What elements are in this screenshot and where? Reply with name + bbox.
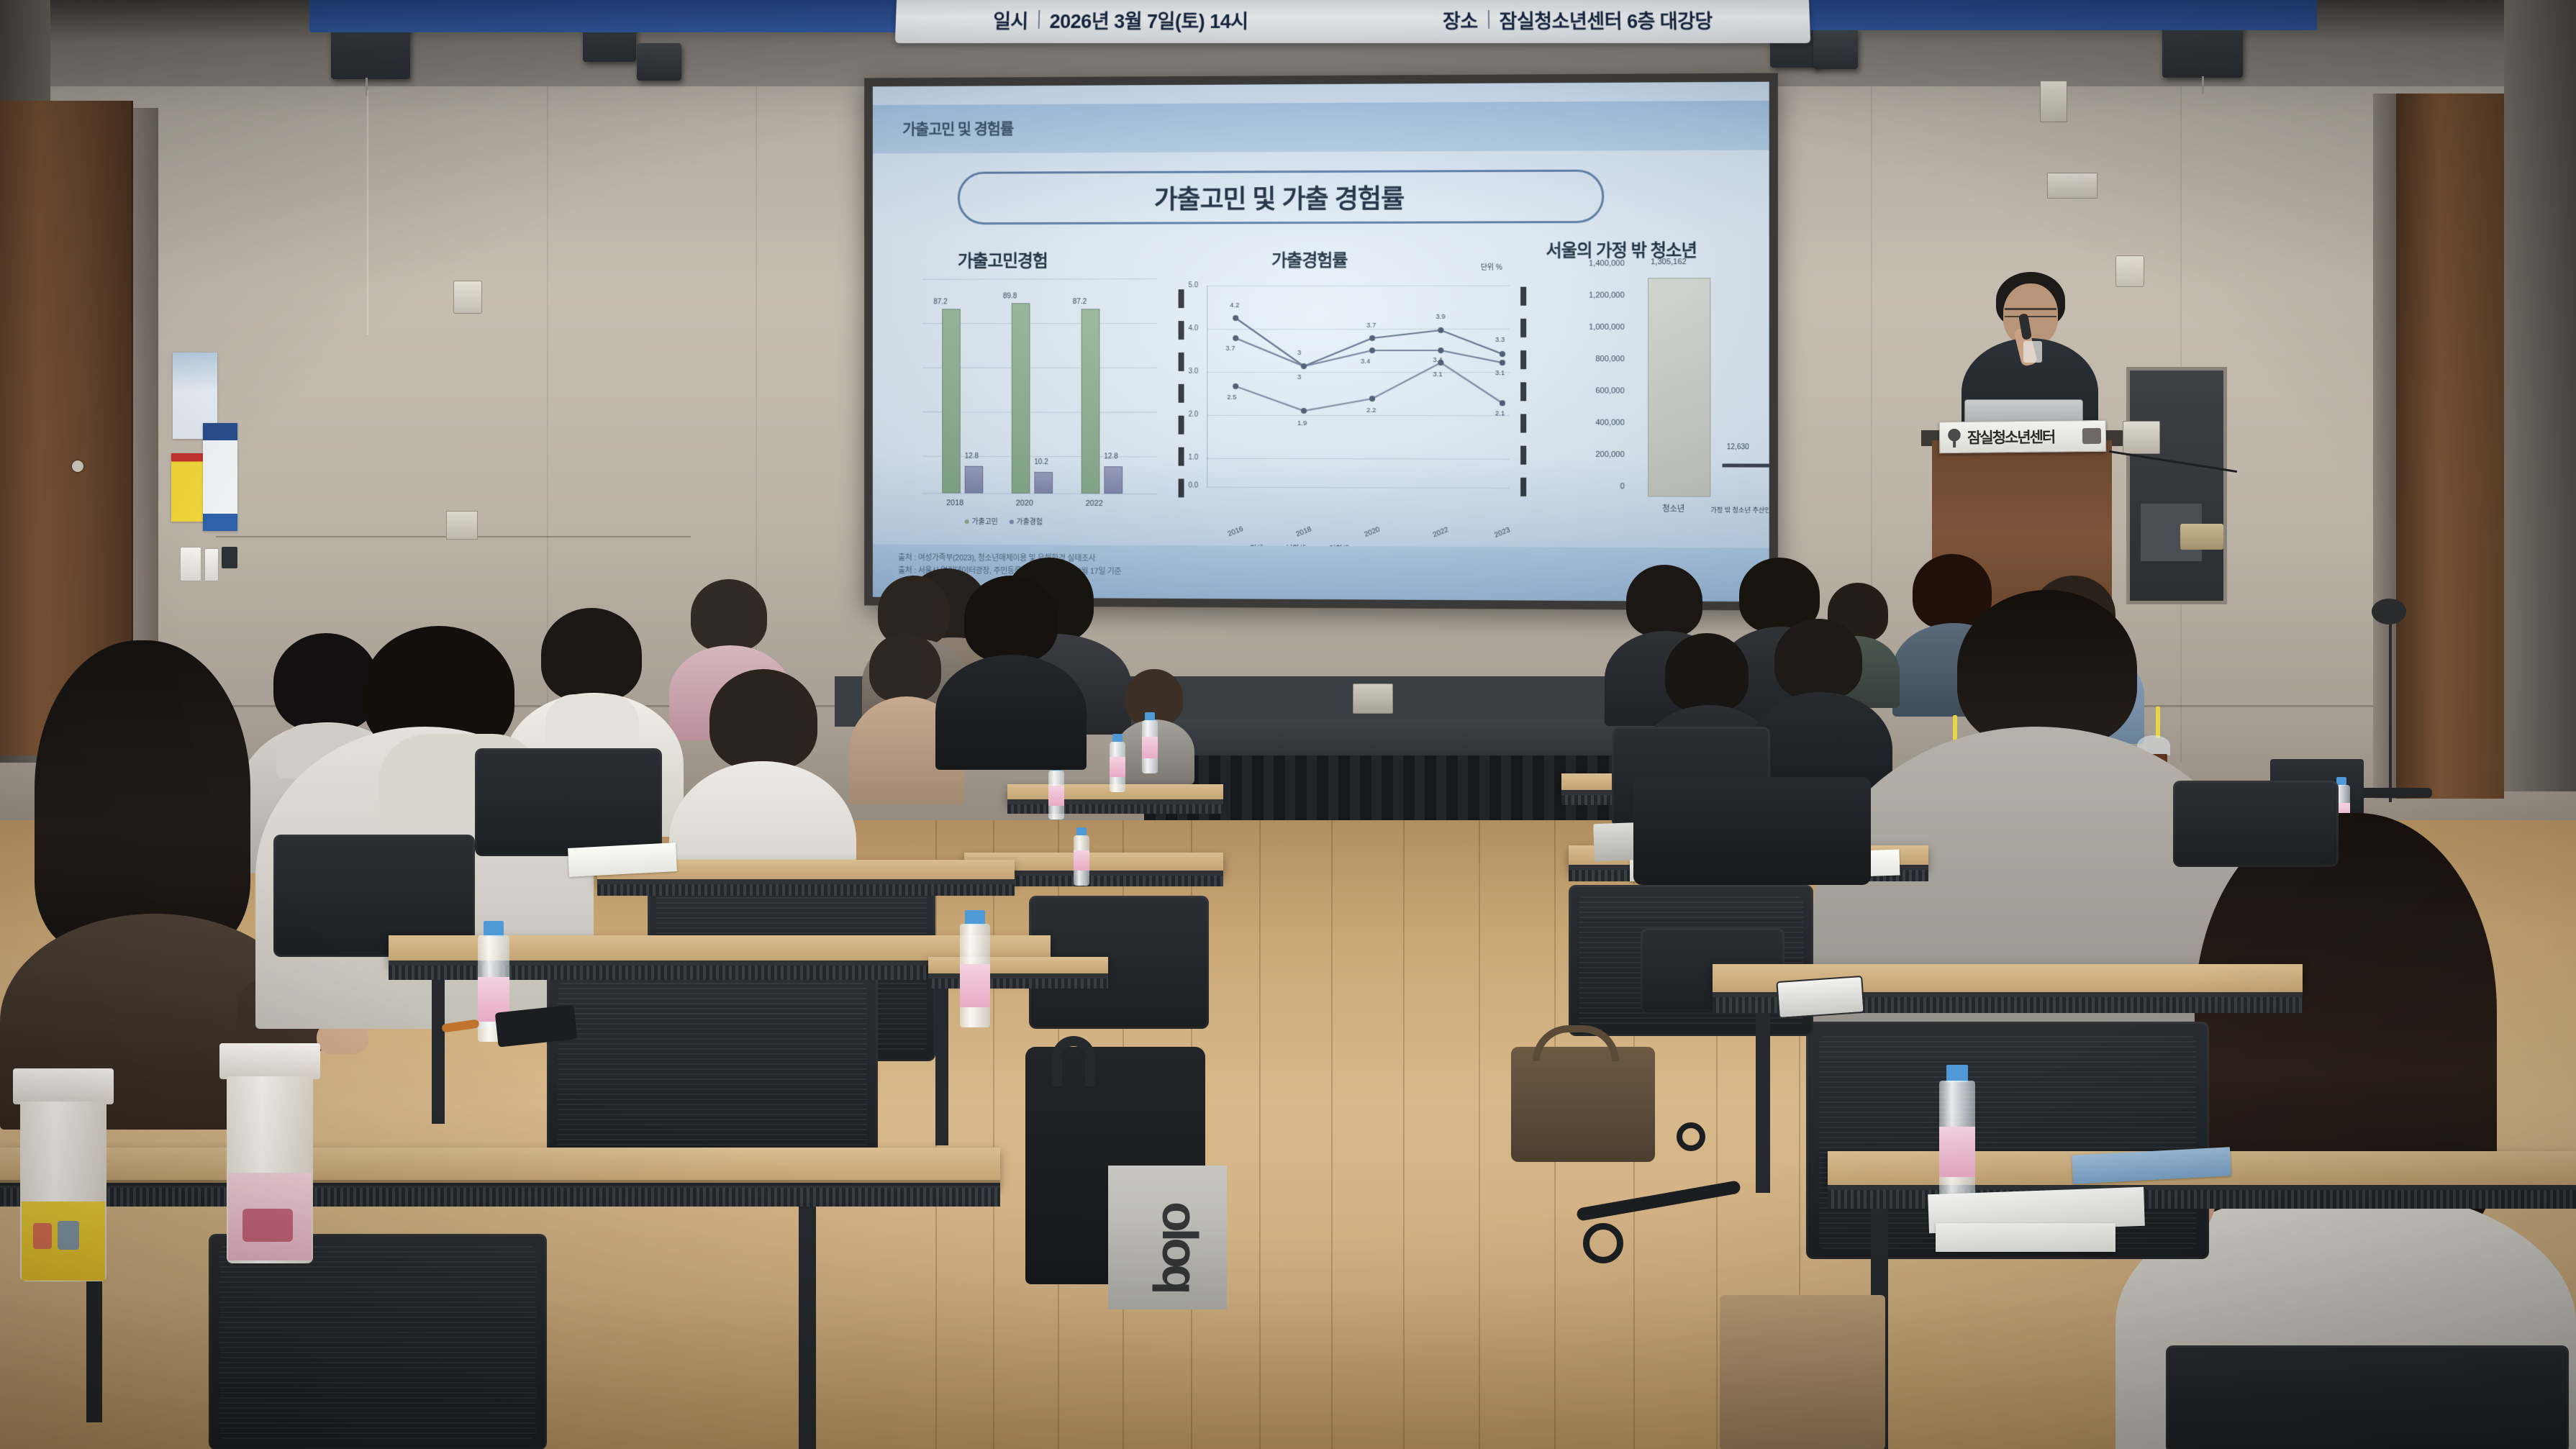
ytick-c-1: 1,200,000: [1555, 291, 1625, 300]
ytick-b-4: 1.0: [1189, 454, 1199, 462]
water-bottle[interactable]: [1108, 734, 1127, 794]
ytick-c-3: 800,000: [1555, 355, 1625, 363]
wall-vent: [2047, 173, 2097, 199]
right-door-frame: [2373, 94, 2398, 799]
banner-separator: [1038, 10, 1040, 29]
chair-caster[interactable]: [1583, 1223, 1623, 1263]
bar-group-2018: 87.2 12.8: [936, 286, 989, 494]
water-bottle[interactable]: [1936, 1065, 1979, 1202]
audience-member: [935, 576, 1087, 763]
mic-head-icon: [2372, 599, 2406, 624]
logo-mark-icon: [2082, 428, 2101, 444]
water-bottle[interactable]: [1072, 827, 1091, 888]
right-wall-return: [2504, 0, 2576, 791]
point-label: 3.7: [1225, 345, 1235, 353]
wall-outlet-box: [446, 511, 478, 540]
wall-sensor: [2115, 255, 2144, 287]
xtick-c-0: 청소년: [1662, 503, 1684, 514]
coffee-cup[interactable]: [13, 1068, 114, 1284]
ytick-c-7: 0: [1555, 482, 1625, 491]
cable: [367, 90, 368, 335]
floor-outlet: [1353, 683, 1393, 714]
xtick-2018: 2018: [946, 499, 963, 507]
door-right[interactable]: [2396, 94, 2504, 799]
point-label: 3: [1297, 349, 1301, 357]
handout-paper[interactable]: [1936, 1223, 2115, 1252]
handbag[interactable]: [1511, 1047, 1655, 1162]
xtick-2020: 2020: [1016, 499, 1033, 508]
point-label: 3: [1297, 373, 1301, 381]
ytick-c-0: 1,400,000: [1555, 259, 1625, 268]
point-label: 3.1: [1495, 369, 1505, 377]
projection-screen: 가출고민 및 경험률 가출고민 및 가출 경험률 가출고민경험 가출경험률 서울…: [873, 82, 1769, 602]
wall-light: [2123, 421, 2160, 454]
xtick-b-4: 2023: [1493, 526, 1511, 540]
podium-sign-text: 잠실청소년센터: [1967, 426, 2055, 448]
bar-value-label: 87.2: [933, 298, 947, 306]
xtick-2022: 2022: [1086, 499, 1103, 508]
slide-title: 가출고민 및 가출 경험률: [1154, 178, 1405, 217]
ytick-b-1: 4.0: [1189, 324, 1199, 332]
bar-value-label: 12.8: [1104, 453, 1117, 460]
jacket-on-chair: [1633, 777, 1871, 885]
point-label: 3.4: [1361, 358, 1370, 365]
bar-value-label: 87.2: [1073, 298, 1087, 306]
xtick-b-3: 2022: [1432, 526, 1450, 540]
legend-item-gomin: 가출고민: [965, 515, 998, 526]
bar-c-secondary: [1723, 463, 1769, 467]
bar-value-label: 12.8: [965, 453, 979, 460]
water-bottle[interactable]: [957, 910, 993, 1029]
ytick-c-6: 200,000: [1555, 450, 1625, 459]
ytick-b-2: 3.0: [1189, 368, 1199, 376]
water-bottle[interactable]: [1047, 763, 1066, 822]
bar-group-2022: 87.2 12.8: [1076, 286, 1128, 494]
panel-divider-dashed: [1520, 287, 1526, 507]
chart-b-lines: [1207, 264, 1510, 509]
point-label: 1.9: [1297, 419, 1307, 427]
point-label: 3.1: [1433, 371, 1442, 378]
banner-blue-right: [1799, 0, 2317, 30]
bar-purple-2022: [1104, 466, 1123, 494]
point-label: 3.3: [1495, 336, 1505, 344]
xtick-c-1: 가정 밖 청소년 추산인원: [1710, 505, 1769, 514]
exit-light: [2040, 81, 2067, 122]
collar: [2023, 341, 2042, 363]
desk-item: [2180, 524, 2223, 550]
bar-green-2020: [1012, 303, 1030, 493]
bar-value-label: 10.2: [1034, 458, 1048, 466]
chart-gachul-gomin: 87.2 12.8 2018 89.8 10.2 2020: [922, 264, 1157, 515]
wall-sensor: [453, 281, 482, 314]
water-bottle[interactable]: [1140, 712, 1159, 776]
presentation-slide: 가출고민 및 경험률 가출고민 및 가출 경험률 가출고민경험 가출경험률 서울…: [873, 82, 1769, 602]
chart-a-legend: 가출고민 가출경험: [965, 515, 1043, 526]
light-switch[interactable]: [180, 547, 201, 581]
smartphone[interactable]: [1776, 976, 1864, 1019]
legend-item-gyeongheom: 가출경험: [1010, 515, 1043, 526]
paper-shopping-bag[interactable]: [1720, 1295, 1885, 1449]
bar-green-2018: [942, 309, 961, 493]
slide-eyebrow-text: 가출고민 및 경험률: [902, 117, 1013, 139]
mic-stand-pole: [2389, 615, 2392, 802]
ytick-c-5: 400,000: [1555, 419, 1625, 427]
desk: [928, 957, 1108, 978]
bar-purple-2020: [1034, 472, 1053, 494]
projection-screen-frame: 가출고민 및 경험률 가출고민 및 가출 경험률 가출고민경험 가출경험률 서울…: [864, 73, 1778, 610]
ytick-c-2: 1,000,000: [1555, 323, 1625, 332]
light-switch[interactable]: [204, 548, 219, 581]
ytick-c-4: 600,000: [1555, 386, 1625, 395]
banner-date-group: 일시 2026년 3월 7일(토) 14시: [993, 6, 1248, 34]
ytick-b-5: 0.0: [1189, 481, 1199, 489]
wall-panel-dark: [222, 547, 237, 568]
banner-date-label: 일시: [993, 6, 1029, 34]
speaker-hanger: [2202, 76, 2204, 94]
podium-nameplate: 잠실청소년센터: [1939, 420, 2106, 453]
slide-title-pill: 가출고민 및 가출 경험률: [958, 170, 1604, 225]
wall-speaker-lower: [637, 43, 681, 81]
center-logo-icon: [1946, 427, 1962, 448]
banner-separator: [1487, 10, 1489, 29]
point-label: 3.4: [1433, 356, 1442, 364]
ytick-b-0: 5.0: [1189, 281, 1199, 289]
chart-seoul-gajeongbak: 1,400,000 1,200,000 1,000,000 800,000 60…: [1561, 249, 1769, 525]
banner-blue-left: [309, 0, 907, 32]
wall-speaker-lower: [1813, 29, 1858, 69]
door-knob[interactable]: [72, 460, 83, 472]
banner-date-value: 2026년 3월 7일(토) 14시: [1049, 6, 1248, 34]
point-label: 4.2: [1230, 301, 1239, 309]
xtick-b-2: 2020: [1364, 526, 1382, 539]
bar-c-value-label: 1,305,162: [1651, 258, 1687, 266]
bar-value-label: 89.8: [1003, 292, 1017, 300]
banner-place-value: 잠실청소년센터 6층 대강당: [1499, 6, 1713, 34]
backpack-strap: [1052, 1036, 1095, 1086]
bar-group-2020: 89.8 10.2: [1006, 286, 1058, 493]
bar-green-2022: [1081, 309, 1100, 494]
tote-bag-logo: oloq: [1115, 1202, 1209, 1281]
chair-caster[interactable]: [1677, 1122, 1705, 1151]
mic-stand-base: [2353, 788, 2432, 798]
handout-paper[interactable]: [568, 842, 677, 877]
bar-c-primary: [1648, 278, 1710, 496]
point-label: 3.7: [1366, 322, 1376, 330]
point-label: 2.1: [1495, 409, 1505, 417]
point-label: 2.2: [1366, 406, 1376, 414]
banner-place-label: 장소: [1443, 6, 1478, 34]
wall-poster: [203, 423, 237, 531]
banner-place-group: 장소 잠실청소년센터 6층 대강당: [1443, 6, 1713, 34]
xtick-b-0: 2016: [1227, 525, 1245, 538]
point-label: 2.5: [1227, 394, 1236, 401]
panel-divider-dashed: [1179, 289, 1184, 504]
bar-purple-2018: [965, 466, 984, 494]
wall-alcove: [2126, 367, 2227, 604]
chart-gachul-gyeongheomryul: 단위 % 5.0 4.0 3.0 2.0 1.0 0.0: [1207, 264, 1510, 524]
bar-c-secondary-label: 12,630: [1727, 443, 1749, 451]
coffee-cup[interactable]: [219, 1043, 320, 1266]
point-label: 3.9: [1436, 313, 1445, 321]
ytick-b-3: 2.0: [1189, 411, 1199, 419]
xtick-b-1: 2018: [1295, 525, 1313, 538]
seminar-room-photo: 일시 2026년 3월 7일(토) 14시 장소 잠실청소년센터 6층 대강당 …: [0, 0, 2576, 1449]
event-banner: 일시 2026년 3월 7일(토) 14시 장소 잠실청소년센터 6층 대강당: [895, 0, 1810, 43]
glasses-icon: [2005, 308, 2056, 317]
